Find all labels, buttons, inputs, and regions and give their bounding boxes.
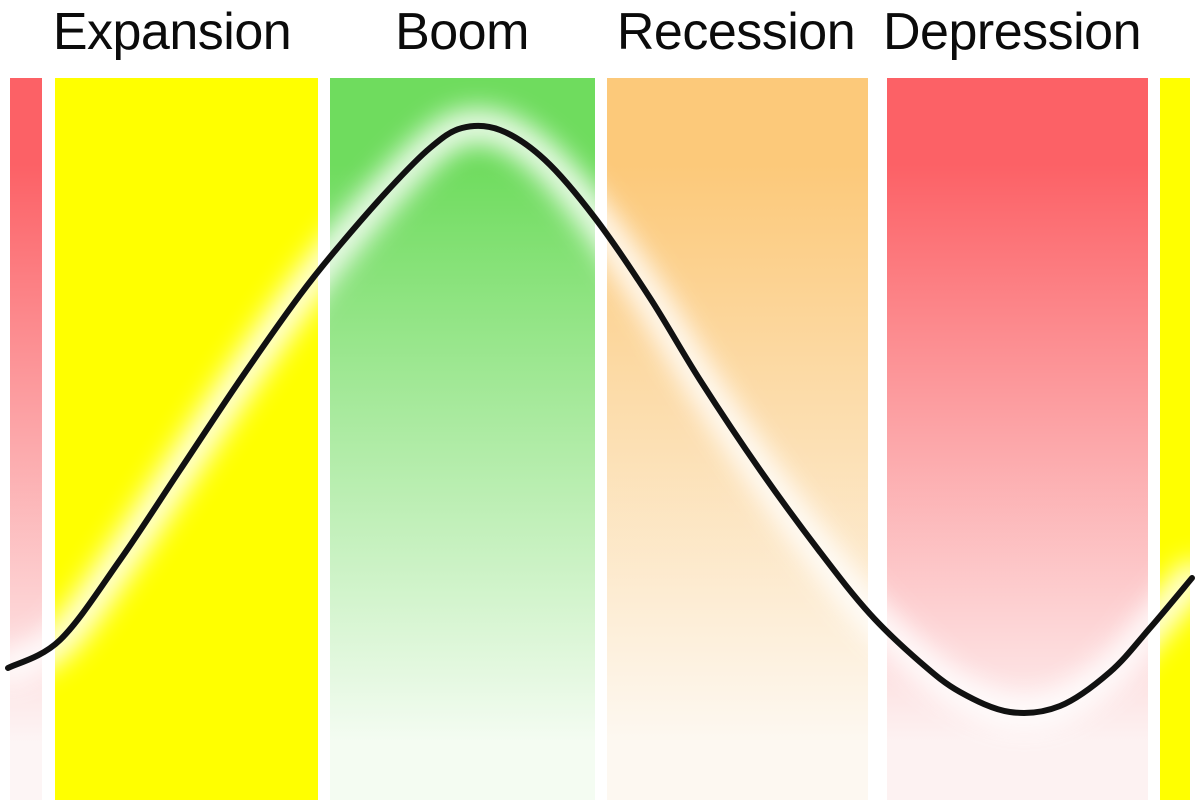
business-cycle-figure: Expansion Boom Recession Depression xyxy=(0,0,1200,800)
phase-band-depression-left-edge xyxy=(10,78,42,800)
phase-label-depression-text: Depression xyxy=(883,3,1141,61)
phase-band-expansion xyxy=(55,78,318,800)
phase-band-boom xyxy=(330,78,595,800)
phase-band-recession xyxy=(607,78,868,800)
phase-band-expansion-right-edge xyxy=(1160,78,1190,800)
phase-label-depression: Depression xyxy=(712,0,1200,70)
phase-band-depression xyxy=(887,78,1148,800)
